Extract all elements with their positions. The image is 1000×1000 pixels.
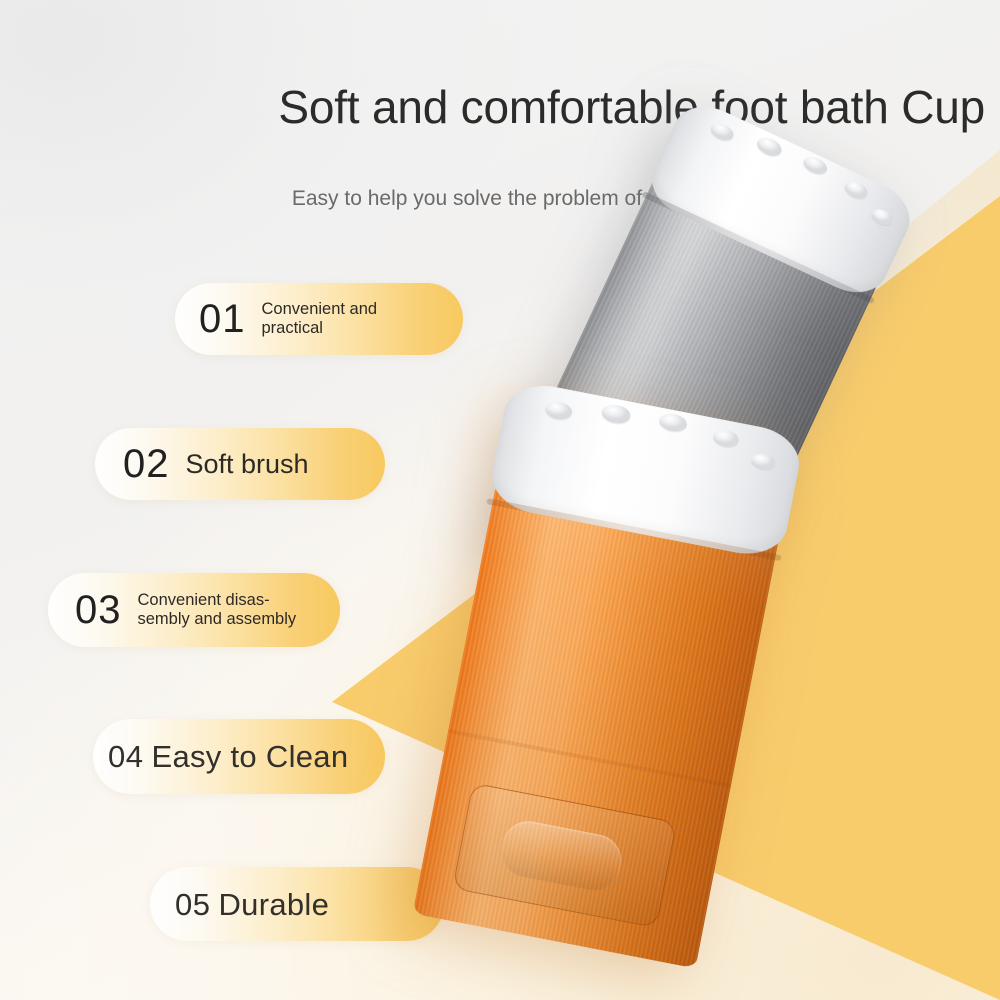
feature-pill-03[interactable]: 03 Convenient disas- sembly and assembly [48, 573, 340, 647]
feature-label-04: Easy to Clean [151, 741, 348, 772]
brush-nub-icon [600, 403, 632, 426]
brush-nub-icon [712, 428, 741, 449]
page-title: Soft and comfortable foot bath Cup [0, 78, 985, 136]
brush-nub-icon [869, 206, 895, 228]
feature-label-01: Convenient and practical [262, 300, 378, 338]
brush-nub-icon [658, 412, 689, 434]
feature-number-02: 02 [123, 444, 170, 484]
brush-nub-icon [544, 400, 574, 422]
feature-number-04: 04 [108, 741, 143, 772]
feature-label-02: Soft brush [186, 449, 309, 480]
brush-nub-icon [708, 120, 736, 144]
feature-number-03: 03 [75, 590, 122, 630]
brush-nub-icon [754, 134, 784, 159]
brush-nub-icon [842, 178, 870, 202]
feature-pill-05[interactable]: 05 Durable [150, 867, 444, 941]
feature-number-01: 01 [199, 299, 246, 339]
product-banner: Soft and comfortable foot bath Cup Easy … [0, 0, 1000, 1000]
feature-pill-04[interactable]: 04 Easy to Clean [93, 719, 385, 794]
brush-nub-icon [750, 452, 776, 471]
feature-number-05: 05 [175, 889, 210, 920]
feature-pill-01[interactable]: 01 Convenient and practical [175, 283, 463, 355]
orange-cup-base-pad [497, 817, 625, 895]
feature-label-03: Convenient disas- sembly and assembly [138, 591, 297, 629]
feature-label-05: Durable [218, 889, 329, 920]
feature-pill-02[interactable]: 02 Soft brush [95, 428, 385, 500]
